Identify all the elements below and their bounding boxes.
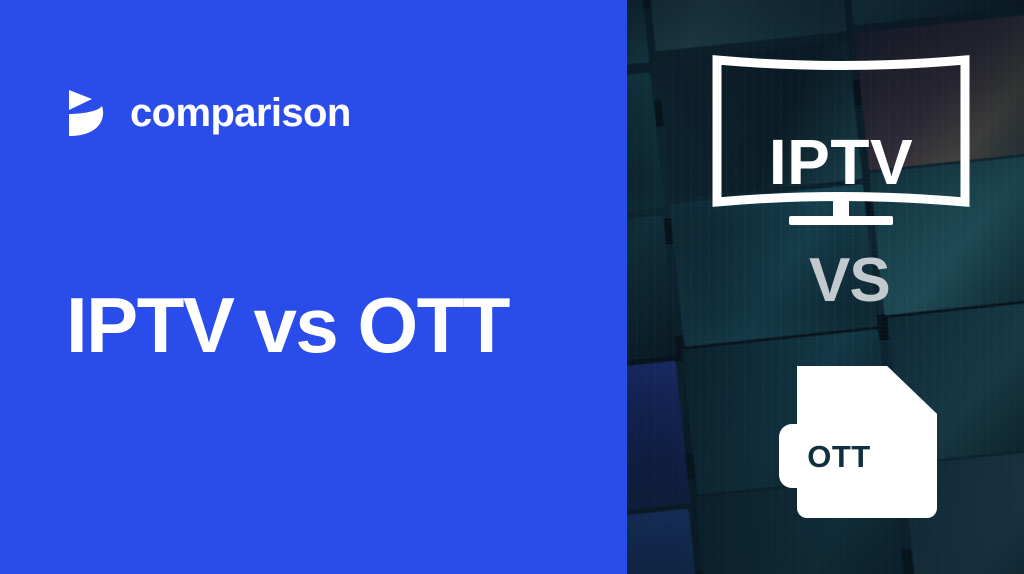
ott-label: OTT bbox=[787, 428, 891, 484]
chevron-leaf-logo-icon bbox=[66, 88, 110, 138]
iptv-tv-graphic: IPTV bbox=[711, 54, 971, 234]
left-blue-panel: comparison IPTV vs OTT bbox=[0, 0, 627, 574]
right-image-panel: IPTV VS OTT bbox=[627, 0, 1024, 574]
brand-name: comparison bbox=[130, 93, 351, 133]
ott-file-graphic: OTT bbox=[775, 356, 947, 528]
versus-label: VS bbox=[809, 250, 890, 312]
comparison-banner: comparison IPTV vs OTT bbox=[0, 0, 1024, 574]
brand-lockup: comparison bbox=[66, 88, 351, 138]
page-title: IPTV vs OTT bbox=[66, 286, 509, 364]
iptv-label: IPTV bbox=[711, 130, 971, 194]
